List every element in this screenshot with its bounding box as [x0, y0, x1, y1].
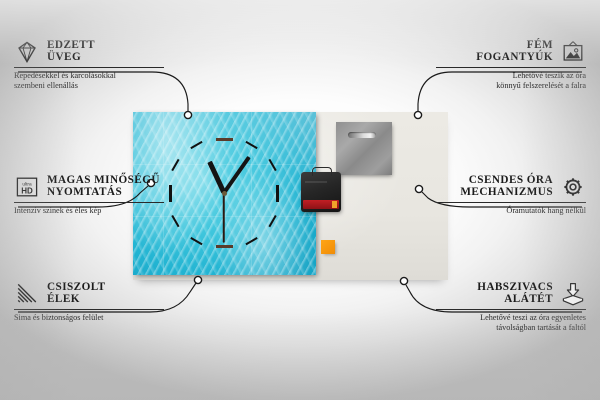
feature-title: FÉM FOGANTYÚK [476, 40, 553, 64]
svg-text:HD: HD [21, 186, 33, 195]
diamond-icon [14, 40, 40, 64]
title-line-2: MECHANIZMUS [460, 187, 553, 199]
clock-tick [216, 245, 233, 248]
divider [14, 202, 164, 203]
clock-tick [169, 185, 172, 202]
feature-title: CSENDES ÓRA MECHANIZMUS [460, 175, 553, 199]
product-photo [133, 112, 448, 280]
title-line-2: NYOMTATÁS [47, 187, 160, 199]
feature-subtitle: Repedésekkel és karcolásokkal szembeni e… [14, 71, 164, 93]
feature-title: EDZETT ÜVEG [47, 40, 95, 64]
title-line-2: FOGANTYÚK [476, 52, 553, 64]
picture-frame-icon [560, 40, 586, 64]
clock-tick [276, 185, 279, 202]
feature-subtitle: Lehetővé teszik az óra könnyű felszerelé… [436, 71, 586, 93]
feature-silent-mechanism: CSENDES ÓRA MECHANIZMUS Óramutatók hang … [436, 175, 586, 216]
feature-title: HABSZIVACS ALÁTÉT [477, 282, 553, 306]
feature-title: CSISZOLT ÉLEK [47, 282, 106, 306]
title-line-2: ÉLEK [47, 294, 106, 306]
clock-center-cap [222, 191, 227, 196]
divider [14, 309, 164, 310]
press-pad-icon [560, 282, 586, 306]
mechanism-handle [312, 167, 332, 176]
feature-hd-print: ultra HD MAGAS MINŐSÉGŰ NYOMTATÁS Intenz… [14, 175, 164, 216]
infographic-canvas: EDZETT ÜVEG Repedésekkel és karcolásokka… [0, 0, 600, 400]
ultra-hd-icon: ultra HD [14, 175, 40, 199]
clock-second-hand [223, 193, 225, 243]
divider [14, 67, 164, 68]
divider [436, 202, 586, 203]
feature-subtitle: Lehetővé teszi az óra egyenletes távolsá… [436, 313, 586, 335]
feature-polished-edges: CSISZOLT ÉLEK Sima és biztonságos felüle… [14, 282, 164, 323]
feature-tempered-glass: EDZETT ÜVEG Repedésekkel és karcolásokka… [14, 40, 164, 92]
title-line-2: ALÁTÉT [477, 294, 553, 306]
feature-foam-pad: HABSZIVACS ALÁTÉT Lehetővé teszi az óra … [436, 282, 586, 334]
metal-hanger-plate [336, 122, 392, 175]
gear-icon [560, 175, 586, 199]
polished-edge-icon [14, 282, 40, 306]
feature-title: MAGAS MINŐSÉGŰ NYOMTATÁS [47, 175, 160, 199]
glass-grid-line [133, 164, 316, 165]
clock-tick [216, 138, 233, 141]
divider [436, 309, 586, 310]
feature-subtitle: Óramutatók hang nélkül [436, 206, 586, 217]
feature-subtitle: Sima és biztonságos felület [14, 313, 164, 324]
divider [436, 67, 586, 68]
clock-mechanism [301, 172, 341, 212]
mechanism-label [303, 200, 339, 209]
feature-subtitle: Intenzív színek és éles kép [14, 206, 164, 217]
glass-grid-line [251, 112, 252, 275]
title-line-2: ÜVEG [47, 52, 95, 64]
foam-pad [321, 240, 335, 254]
feature-metal-handles: FÉM FOGANTYÚK Lehetővé teszik az óra kön… [436, 40, 586, 92]
hanger-slot [348, 132, 376, 138]
mechanism-seam [305, 181, 327, 183]
